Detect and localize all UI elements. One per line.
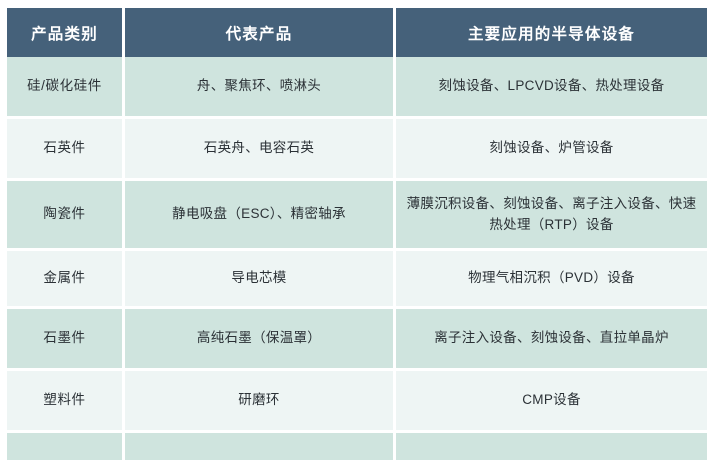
cell-equipment: 刻蚀设备、LPCVD设备、热处理设备 [396, 57, 707, 119]
cell-equipment: 薄膜沉积设备、刻蚀设备、离子注入设备、快速热处理（RTP）设备 [396, 181, 707, 251]
cell-products: 石英舟、电容石英 [125, 119, 396, 181]
cell-products: 静电吸盘（ESC）、精密轴承 [125, 181, 396, 251]
cell-products: 高纯石墨（保温罩） [125, 309, 396, 371]
table-row: 陶瓷件 静电吸盘（ESC）、精密轴承 薄膜沉积设备、刻蚀设备、离子注入设备、快速… [7, 181, 707, 251]
cell-category: 石墨件 [7, 309, 125, 371]
table-row: 塑料件 研磨环 CMP设备 [7, 371, 707, 433]
cell-category: 塑料件 [7, 371, 125, 433]
cell-products: 导电芯模 [125, 251, 396, 309]
product-category-table: 产品类别 代表产品 主要应用的半导体设备 硅/碳化硅件 舟、聚焦环、喷淋头 刻蚀… [7, 8, 707, 463]
table-row: 石英件 石英舟、电容石英 刻蚀设备、炉管设备 [7, 119, 707, 181]
cell-products: 舟、聚焦环、喷淋头 [125, 57, 396, 119]
cell-products: 研磨环 [125, 371, 396, 433]
table-header-row: 产品类别 代表产品 主要应用的半导体设备 [7, 8, 707, 57]
table-row: 硅/碳化硅件 舟、聚焦环、喷淋头 刻蚀设备、LPCVD设备、热处理设备 [7, 57, 707, 119]
cell-equipment: 物理气相沉积（PVD）设备 [396, 251, 707, 309]
table-row-partial [7, 433, 707, 463]
cell-category: 陶瓷件 [7, 181, 125, 251]
table-header: 产品类别 代表产品 主要应用的半导体设备 [7, 8, 707, 57]
cell-category: 石英件 [7, 119, 125, 181]
cell-category: 金属件 [7, 251, 125, 309]
column-header-category: 产品类别 [7, 8, 125, 57]
cell-category: 硅/碳化硅件 [7, 57, 125, 119]
table-row: 金属件 导电芯模 物理气相沉积（PVD）设备 [7, 251, 707, 309]
column-header-main-semiconductor-equipment: 主要应用的半导体设备 [396, 8, 707, 57]
column-header-representative-products: 代表产品 [125, 8, 396, 57]
cell-equipment [396, 433, 707, 463]
cell-equipment: 离子注入设备、刻蚀设备、直拉单晶炉 [396, 309, 707, 371]
table-body: 硅/碳化硅件 舟、聚焦环、喷淋头 刻蚀设备、LPCVD设备、热处理设备 石英件 … [7, 57, 707, 463]
cell-category [7, 433, 125, 463]
cell-equipment: CMP设备 [396, 371, 707, 433]
cell-products [125, 433, 396, 463]
table-row: 石墨件 高纯石墨（保温罩） 离子注入设备、刻蚀设备、直拉单晶炉 [7, 309, 707, 371]
cell-equipment: 刻蚀设备、炉管设备 [396, 119, 707, 181]
screenshot-root: 产品类别 代表产品 主要应用的半导体设备 硅/碳化硅件 舟、聚焦环、喷淋头 刻蚀… [0, 0, 707, 464]
